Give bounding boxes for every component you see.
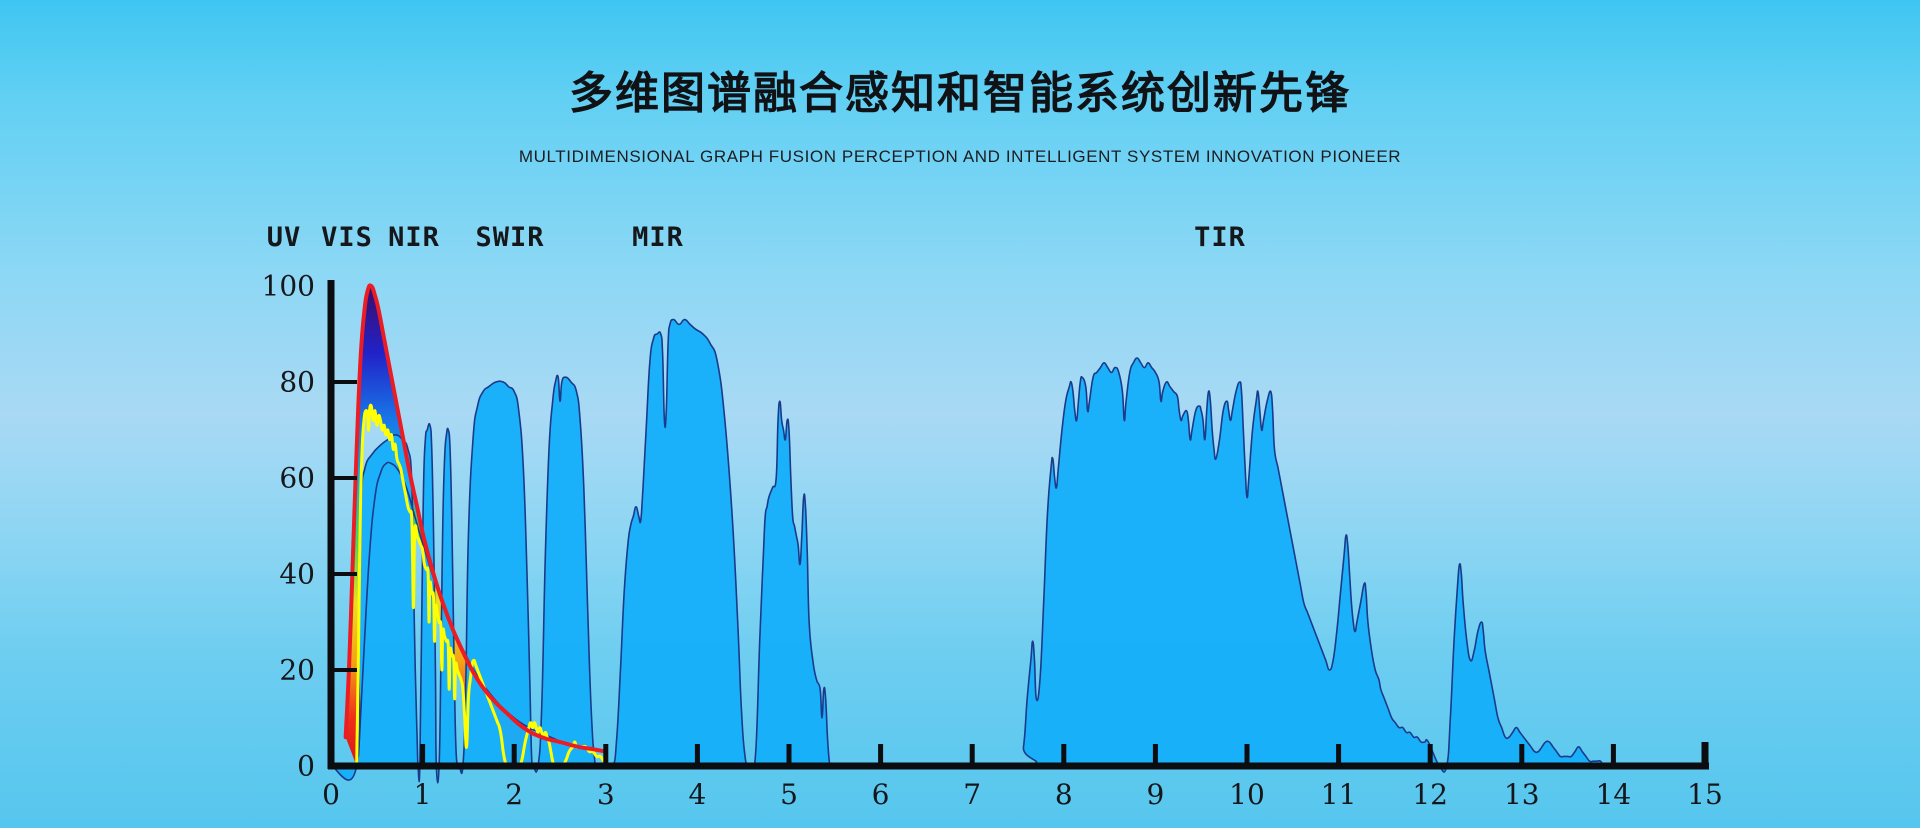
x-tick-label: 8 [1055,778,1073,811]
y-tick-label: 40 [279,558,315,591]
axis-group [328,280,1709,769]
x-tick-label: 14 [1596,778,1632,811]
x-tick-label: 6 [872,778,890,811]
band-label-tir: TIR [1194,222,1246,253]
x-tick-label: 7 [963,778,981,811]
y-tick-label: 0 [297,750,315,783]
band-label-swir: SWIR [475,222,544,253]
x-tick-label: 9 [1146,778,1164,811]
x-tick-label: 0 [322,778,340,811]
x-tick-label: 1 [414,778,432,811]
spectrum-poster: 多维图谱融合感知和智能系统创新先锋 MULTIDIMENSIONAL GRAPH… [0,0,1920,828]
x-tick-label: 13 [1504,778,1540,811]
band-label-mir: MIR [632,222,684,253]
y-tick-label: 100 [262,270,315,303]
x-tick-label: 15 [1687,778,1723,811]
band-label-vis: VIS [321,222,373,253]
band-label-nir: NIR [388,222,440,253]
x-tick-label: 4 [688,778,706,811]
x-tick-label: 11 [1321,778,1357,811]
x-tick-label: 12 [1412,778,1448,811]
y-tick-label: 20 [279,654,315,687]
x-tick-label: 2 [505,778,523,811]
y-tick-label: 60 [279,462,315,495]
x-tick-label: 5 [780,778,798,811]
atmospheric-transmission-outline [331,320,1705,783]
x-tick-label: 10 [1229,778,1265,811]
atmospheric-transmission-area [331,320,1705,783]
band-label-uv: UV [267,222,302,253]
spectrum-chart [0,0,1920,828]
x-tick-label: 3 [597,778,615,811]
y-tick-label: 80 [279,366,315,399]
